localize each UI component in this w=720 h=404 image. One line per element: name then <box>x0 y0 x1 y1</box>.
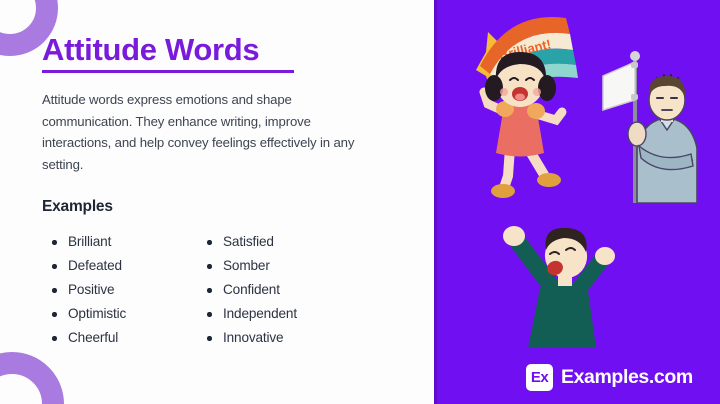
list-item: Confident <box>207 278 297 302</box>
left-content-column: Attitude Words Attitude words express em… <box>42 0 422 404</box>
intro-paragraph: Attitude words express emotions and shap… <box>42 89 362 175</box>
title-underline <box>42 70 294 73</box>
list-item: Satisfied <box>207 230 297 254</box>
girl-celebrating-illustration: Brilliant! <box>458 8 588 203</box>
examples-logo[interactable]: Ex Examples.com <box>526 364 693 391</box>
panel-left-edge <box>434 0 437 404</box>
illustration-panel: Brilliant! <box>434 0 720 404</box>
examples-heading: Examples <box>42 198 113 216</box>
man-with-flag-illustration <box>599 48 709 203</box>
list-item: Positive <box>52 278 126 302</box>
list-item: Independent <box>207 302 297 326</box>
list-item: Defeated <box>52 254 126 278</box>
logo-mark-icon: Ex <box>526 364 553 391</box>
examples-list-column-1: Brilliant Defeated Positive Optimistic C… <box>52 230 126 350</box>
slide-canvas: Attitude Words Attitude words express em… <box>0 0 720 404</box>
page-title: Attitude Words <box>42 32 259 68</box>
cheering-man-illustration <box>492 218 627 348</box>
list-item: Brilliant <box>52 230 126 254</box>
logo-text: Examples.com <box>561 366 693 389</box>
list-item: Innovative <box>207 326 297 350</box>
examples-list-column-2: Satisfied Somber Confident Independent I… <box>207 230 297 350</box>
list-item: Somber <box>207 254 297 278</box>
list-item: Cheerful <box>52 326 126 350</box>
list-item: Optimistic <box>52 302 126 326</box>
